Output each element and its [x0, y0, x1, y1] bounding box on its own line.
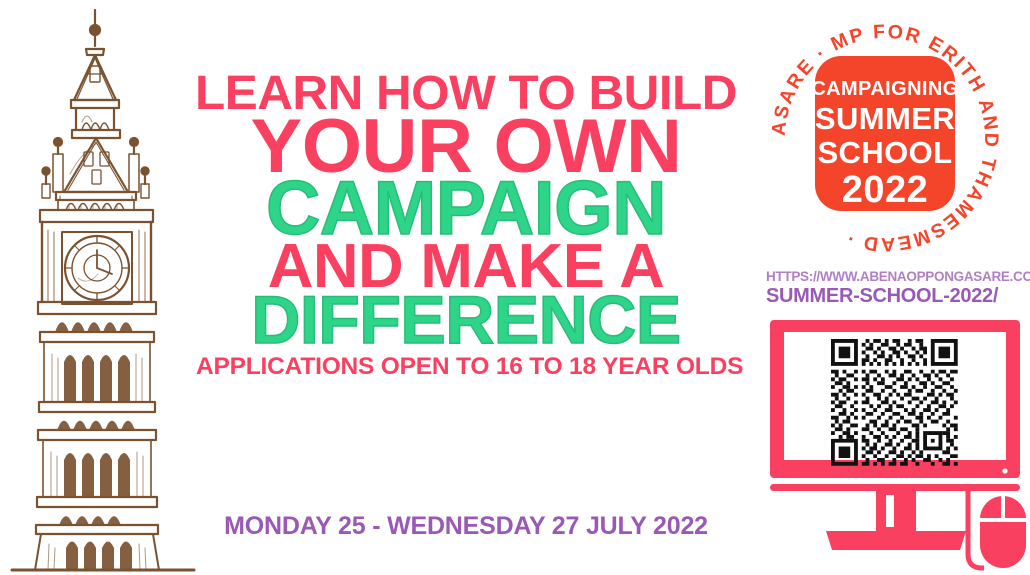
monitor-stand-foot: [826, 531, 966, 550]
monitor-power-led: [1002, 468, 1007, 473]
monitor-stand-groove: [886, 495, 894, 527]
monitor-stand-neck: [876, 491, 916, 531]
signup-url[interactable]: HTTPS://WWW.ABENAOPPONGASARE.COM/ SUMMER…: [766, 270, 1018, 308]
monitor-base-bar: [770, 484, 1020, 491]
url-line-2: SUMMER-SCHOOL-2022/: [766, 285, 1018, 308]
big-ben-sketch-illustration: [8, 2, 198, 575]
url-line-1: HTTPS://WWW.ABENAOPPONGASARE.COM/: [766, 270, 1018, 285]
badge-line-year: 2022: [842, 169, 929, 211]
headline-block: LEARN HOW TO BUILD YOUR OWN CAMPAIGN AND…: [196, 72, 736, 381]
summer-school-badge: ABENA OPPONG-ASARE · MP FOR ERITH AND TH…: [765, 18, 1005, 258]
event-dates: MONDAY 25 - WEDNESDAY 27 JULY 2022: [196, 512, 736, 541]
badge-line-campaigning: CAMPAIGNING: [811, 78, 958, 100]
poster-canvas: LEARN HOW TO BUILD YOUR OWN CAMPAIGN AND…: [0, 0, 1030, 575]
headline-line-5: DIFFERENCE: [196, 289, 736, 352]
badge-line-summer: SUMMER: [815, 101, 955, 136]
desktop-monitor-with-qr-code[interactable]: [762, 318, 1030, 575]
qr-code[interactable]: [829, 337, 961, 466]
badge-line-school: SCHOOL: [817, 135, 952, 170]
mouse-button-edge: [980, 518, 1026, 522]
mouse-button-divider: [1001, 496, 1005, 520]
